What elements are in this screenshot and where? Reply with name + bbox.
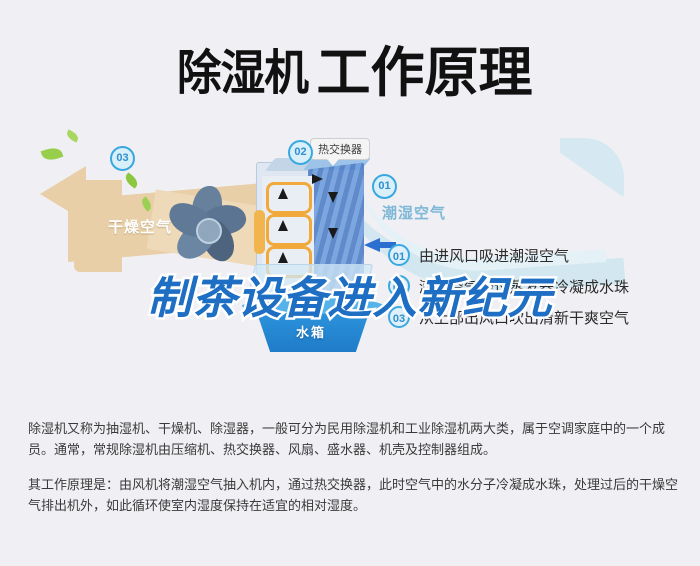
refrigerant-pipe <box>266 214 312 246</box>
moist-air-label: 潮湿空气 <box>382 202 446 223</box>
infographic-page: 除湿机工作原理 干燥空气 <box>0 0 700 566</box>
leaf-icon <box>123 172 140 188</box>
flow-arrow-right-icon <box>312 174 323 184</box>
diagram-badge-03: 03 <box>110 146 135 171</box>
flow-arrow-up-icon <box>278 220 288 231</box>
page-title-part1: 除湿机 <box>177 33 308 103</box>
paragraph-2: 其工作原理是：由风机将潮湿空气抽入机内，通过热交换器，此时空气中的水分子冷凝成水… <box>28 474 678 516</box>
fan-hub <box>196 218 222 244</box>
refrigerant-pipe <box>266 182 312 214</box>
diagram-badge-02: 02 <box>288 140 313 165</box>
description-block: 除湿机又称为抽湿机、干燥机、除湿器，一般可分为民用除湿机和工业除湿机两大类，属于… <box>28 418 678 530</box>
page-title-part2: 工作原理 <box>317 28 533 107</box>
diagram-badge-01: 01 <box>372 174 397 199</box>
page-title: 除湿机工作原理 <box>0 28 700 107</box>
leaf-icon <box>41 145 64 163</box>
leaf-icon <box>65 129 80 142</box>
paragraph-1: 除湿机又称为抽湿机、干燥机、除湿器，一般可分为民用除湿机和工业除湿机两大类，属于… <box>28 418 678 460</box>
accumulator-cylinder <box>254 210 265 254</box>
flow-arrow-down-icon <box>328 192 338 203</box>
heat-exchanger-callout: 热交换器 <box>310 138 370 160</box>
dry-air-arrow-head-icon <box>40 166 86 222</box>
flow-arrow-down-icon <box>328 228 338 239</box>
flow-arrow-up-icon <box>278 188 288 199</box>
watermark-text: 制茶设备进入新纪元 <box>0 262 700 326</box>
